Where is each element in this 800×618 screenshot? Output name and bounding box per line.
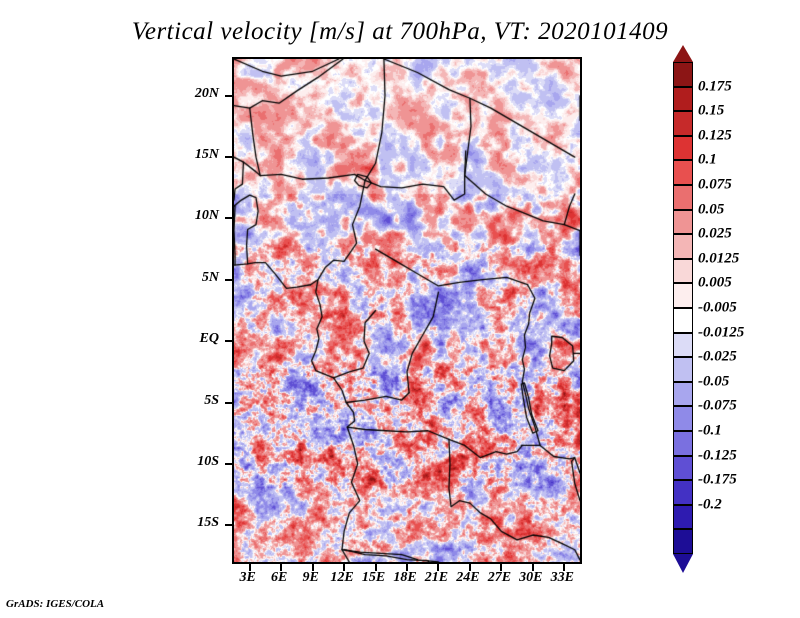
attribution-text: GrADS: IGES/COLA: [6, 598, 104, 610]
lat-tick: [225, 524, 232, 526]
colorbar-swatch: [673, 308, 693, 333]
colorbar-arrow-bottom: [673, 554, 693, 573]
colorbar-tick-label: -0.125: [698, 447, 737, 464]
colorbar-swatch: [673, 406, 693, 431]
lat-label: 10N: [0, 208, 219, 224]
colorbar-tick-label: 0.1: [698, 152, 717, 169]
lon-label: 33E: [551, 570, 574, 586]
lat-tick: [225, 463, 232, 465]
colorbar-swatch: [673, 210, 693, 235]
colorbar: [673, 62, 693, 554]
colorbar-swatch: [673, 62, 693, 87]
colorbar-tick-label: 0.15: [698, 103, 724, 120]
colorbar-tick-label: -0.005: [698, 300, 737, 317]
lat-label: EQ: [0, 331, 219, 347]
lon-label: 9E: [302, 570, 318, 586]
colorbar-swatch: [673, 259, 693, 284]
colorbar-swatch: [673, 505, 693, 530]
lon-label: 24E: [456, 570, 479, 586]
page-title: Vertical velocity [m/s] at 700hPa, VT: 2…: [0, 18, 800, 46]
colorbar-tick-label: -0.05: [698, 373, 729, 390]
colorbar-swatch: [673, 87, 693, 112]
lat-tick: [225, 95, 232, 97]
colorbar-tick-label: -0.0125: [698, 324, 744, 341]
colorbar-tick-label: -0.2: [698, 496, 722, 513]
colorbar-tick-label: 0.05: [698, 201, 724, 218]
colorbar-swatch: [673, 480, 693, 505]
colorbar-swatch: [673, 111, 693, 136]
lat-label: 15S: [0, 515, 219, 531]
lat-label: 10S: [0, 454, 219, 470]
colorbar-swatch: [673, 529, 693, 554]
colorbar-swatch: [673, 136, 693, 161]
vertical-velocity-heatmap: [234, 59, 580, 562]
lon-label: 3E: [240, 570, 256, 586]
colorbar-tick-label: 0.005: [698, 275, 732, 292]
lat-tick: [225, 217, 232, 219]
map-panel: [232, 57, 582, 564]
colorbar-swatch: [673, 333, 693, 358]
lon-label: 21E: [425, 570, 448, 586]
colorbar-swatch: [673, 431, 693, 456]
lon-label: 12E: [330, 570, 353, 586]
lon-label: 30E: [519, 570, 542, 586]
lat-label: 5S: [0, 393, 219, 409]
lat-label: 20N: [0, 86, 219, 102]
lat-tick: [225, 340, 232, 342]
lon-label: 18E: [393, 570, 416, 586]
colorbar-tick-label: -0.1: [698, 423, 722, 440]
colorbar-tick-label: -0.025: [698, 349, 737, 366]
lat-tick: [225, 402, 232, 404]
colorbar-tick-label: 0.025: [698, 226, 732, 243]
colorbar-swatch: [673, 160, 693, 185]
colorbar-swatch: [673, 234, 693, 259]
lat-label: 5N: [0, 270, 219, 286]
colorbar-arrow-top: [673, 45, 693, 62]
lon-label: 15E: [362, 570, 385, 586]
colorbar-tick-label: 0.175: [698, 78, 732, 95]
lon-label: 6E: [271, 570, 287, 586]
colorbar-swatch: [673, 283, 693, 308]
colorbar-tick-label: -0.075: [698, 398, 737, 415]
colorbar-swatch: [673, 357, 693, 382]
lat-tick: [225, 279, 232, 281]
colorbar-swatch: [673, 382, 693, 407]
lat-tick: [225, 156, 232, 158]
colorbar-swatch: [673, 185, 693, 210]
colorbar-tick-label: 0.0125: [698, 250, 739, 267]
colorbar-swatch: [673, 456, 693, 481]
lon-label: 27E: [488, 570, 511, 586]
colorbar-tick-label: 0.075: [698, 177, 732, 194]
colorbar-tick-label: 0.125: [698, 127, 732, 144]
lat-label: 15N: [0, 147, 219, 163]
grads-plot-page: Vertical velocity [m/s] at 700hPa, VT: 2…: [0, 0, 800, 618]
colorbar-tick-label: -0.175: [698, 472, 737, 489]
